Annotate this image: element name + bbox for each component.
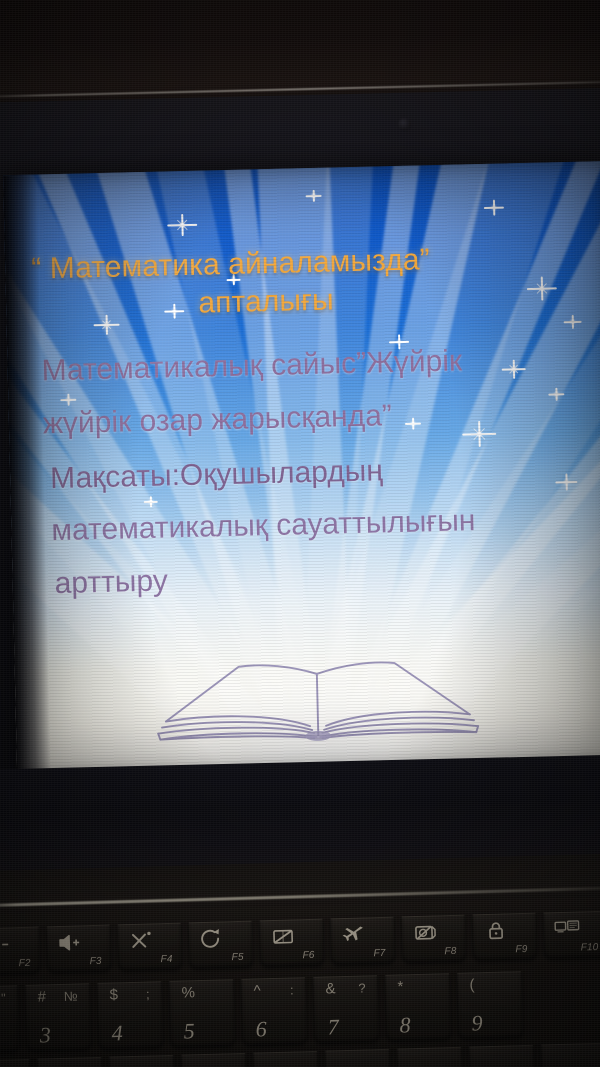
key-letter-row-cropped[interactable] bbox=[469, 1045, 535, 1067]
key-primary-legend: 6 bbox=[255, 1016, 267, 1042]
laptop-keyboard[interactable]: F2F3F4F5F6F7F8F9F10 @"#№3$;4%5^:6&?7*8(9 bbox=[0, 895, 600, 1067]
key-f2[interactable]: F2 bbox=[0, 927, 40, 975]
key-fn-label: F2 bbox=[18, 958, 30, 969]
key-primary-legend: 9 bbox=[471, 1010, 483, 1036]
presentation-slide: “ Математика айналамызда” апталығы Матем… bbox=[3, 161, 600, 775]
key-fn-label: F4 bbox=[160, 954, 172, 965]
key-shift-legend: $ bbox=[109, 986, 118, 1003]
key-f4[interactable]: F4 bbox=[118, 923, 182, 971]
camera-off-icon bbox=[412, 921, 439, 944]
key-f8[interactable]: F8 bbox=[402, 915, 466, 963]
key-alt-legend: ; bbox=[146, 986, 150, 1001]
photograph: “ Математика айналамызда” апталығы Матем… bbox=[0, 0, 600, 1067]
key-letter-row-cropped[interactable] bbox=[181, 1053, 247, 1067]
laptop-screen[interactable]: “ Математика айналамызда” апталығы Матем… bbox=[3, 161, 600, 775]
key-primary-legend: 8 bbox=[399, 1012, 411, 1038]
key-shift-legend: % bbox=[181, 984, 195, 1001]
open-book-icon bbox=[142, 642, 493, 765]
key-fn-label: F7 bbox=[373, 948, 385, 959]
key-f5[interactable]: F5 bbox=[189, 921, 253, 969]
key-fn-label: F9 bbox=[515, 944, 527, 955]
key-4[interactable]: $;4 bbox=[97, 981, 163, 1049]
key-7[interactable]: &?7 bbox=[313, 975, 379, 1043]
key-alt-legend: : bbox=[290, 982, 294, 997]
key-fn-label: F6 bbox=[302, 950, 314, 961]
key-shift-legend: ^ bbox=[253, 982, 261, 999]
keyboard-number-row[interactable]: @"#№3$;4%5^:6&?7*8(9 bbox=[0, 971, 531, 1053]
volume-down-icon bbox=[0, 933, 12, 956]
refresh-icon bbox=[199, 927, 226, 950]
key-primary-legend: 5 bbox=[183, 1018, 195, 1044]
lock-icon bbox=[483, 919, 510, 942]
key-f6[interactable]: F6 bbox=[260, 919, 324, 967]
key-shift-legend: ( bbox=[469, 976, 474, 993]
dual-display-icon bbox=[554, 917, 581, 940]
microphone-mute-icon bbox=[128, 929, 155, 952]
key-letter-row-cropped[interactable] bbox=[253, 1051, 319, 1067]
key-shift-legend: # bbox=[37, 988, 46, 1005]
key-primary-legend: 3 bbox=[39, 1022, 51, 1048]
touchpad-off-icon bbox=[270, 925, 297, 948]
key-alt-legend: ? bbox=[358, 980, 366, 995]
key-shift-legend: & bbox=[325, 980, 335, 997]
key-f3[interactable]: F3 bbox=[47, 925, 111, 973]
key-fn-label: F8 bbox=[444, 946, 456, 957]
key-letter-row-cropped[interactable] bbox=[325, 1049, 391, 1067]
key-primary-legend: 7 bbox=[327, 1014, 339, 1040]
key-alt-legend: " bbox=[1, 990, 6, 1005]
key-f7[interactable]: F7 bbox=[331, 917, 395, 965]
key-letter-row-cropped[interactable] bbox=[37, 1057, 103, 1067]
airplane-mode-icon bbox=[341, 923, 368, 946]
volume-up-icon bbox=[57, 931, 84, 954]
key-at[interactable]: @" bbox=[0, 985, 19, 1053]
key-letter-row-cropped[interactable] bbox=[541, 1043, 600, 1067]
key-alt-legend: № bbox=[64, 988, 78, 1003]
key-letter-row-cropped[interactable] bbox=[109, 1055, 175, 1067]
key-6[interactable]: ^:6 bbox=[241, 977, 307, 1045]
key-letter-row-cropped[interactable] bbox=[0, 1059, 31, 1067]
key-fn-label: F3 bbox=[89, 956, 101, 967]
key-letter-row-cropped[interactable] bbox=[397, 1047, 463, 1067]
keyboard-function-row[interactable]: F2F3F4F5F6F7F8F9F10 bbox=[0, 910, 600, 974]
key-shift-legend: * bbox=[397, 978, 403, 995]
key-f9[interactable]: F9 bbox=[473, 913, 537, 961]
key-8[interactable]: *8 bbox=[385, 973, 451, 1041]
key-3[interactable]: #№3 bbox=[25, 983, 91, 1051]
key-f10[interactable]: F10 bbox=[544, 911, 600, 959]
key-9[interactable]: (9 bbox=[457, 971, 523, 1039]
key-fn-label: F10 bbox=[581, 942, 599, 953]
key-primary-legend: 4 bbox=[111, 1020, 123, 1046]
slide-body-line-5: арттыру bbox=[54, 564, 168, 600]
key-5[interactable]: %5 bbox=[169, 979, 235, 1047]
key-fn-label: F5 bbox=[231, 952, 243, 963]
